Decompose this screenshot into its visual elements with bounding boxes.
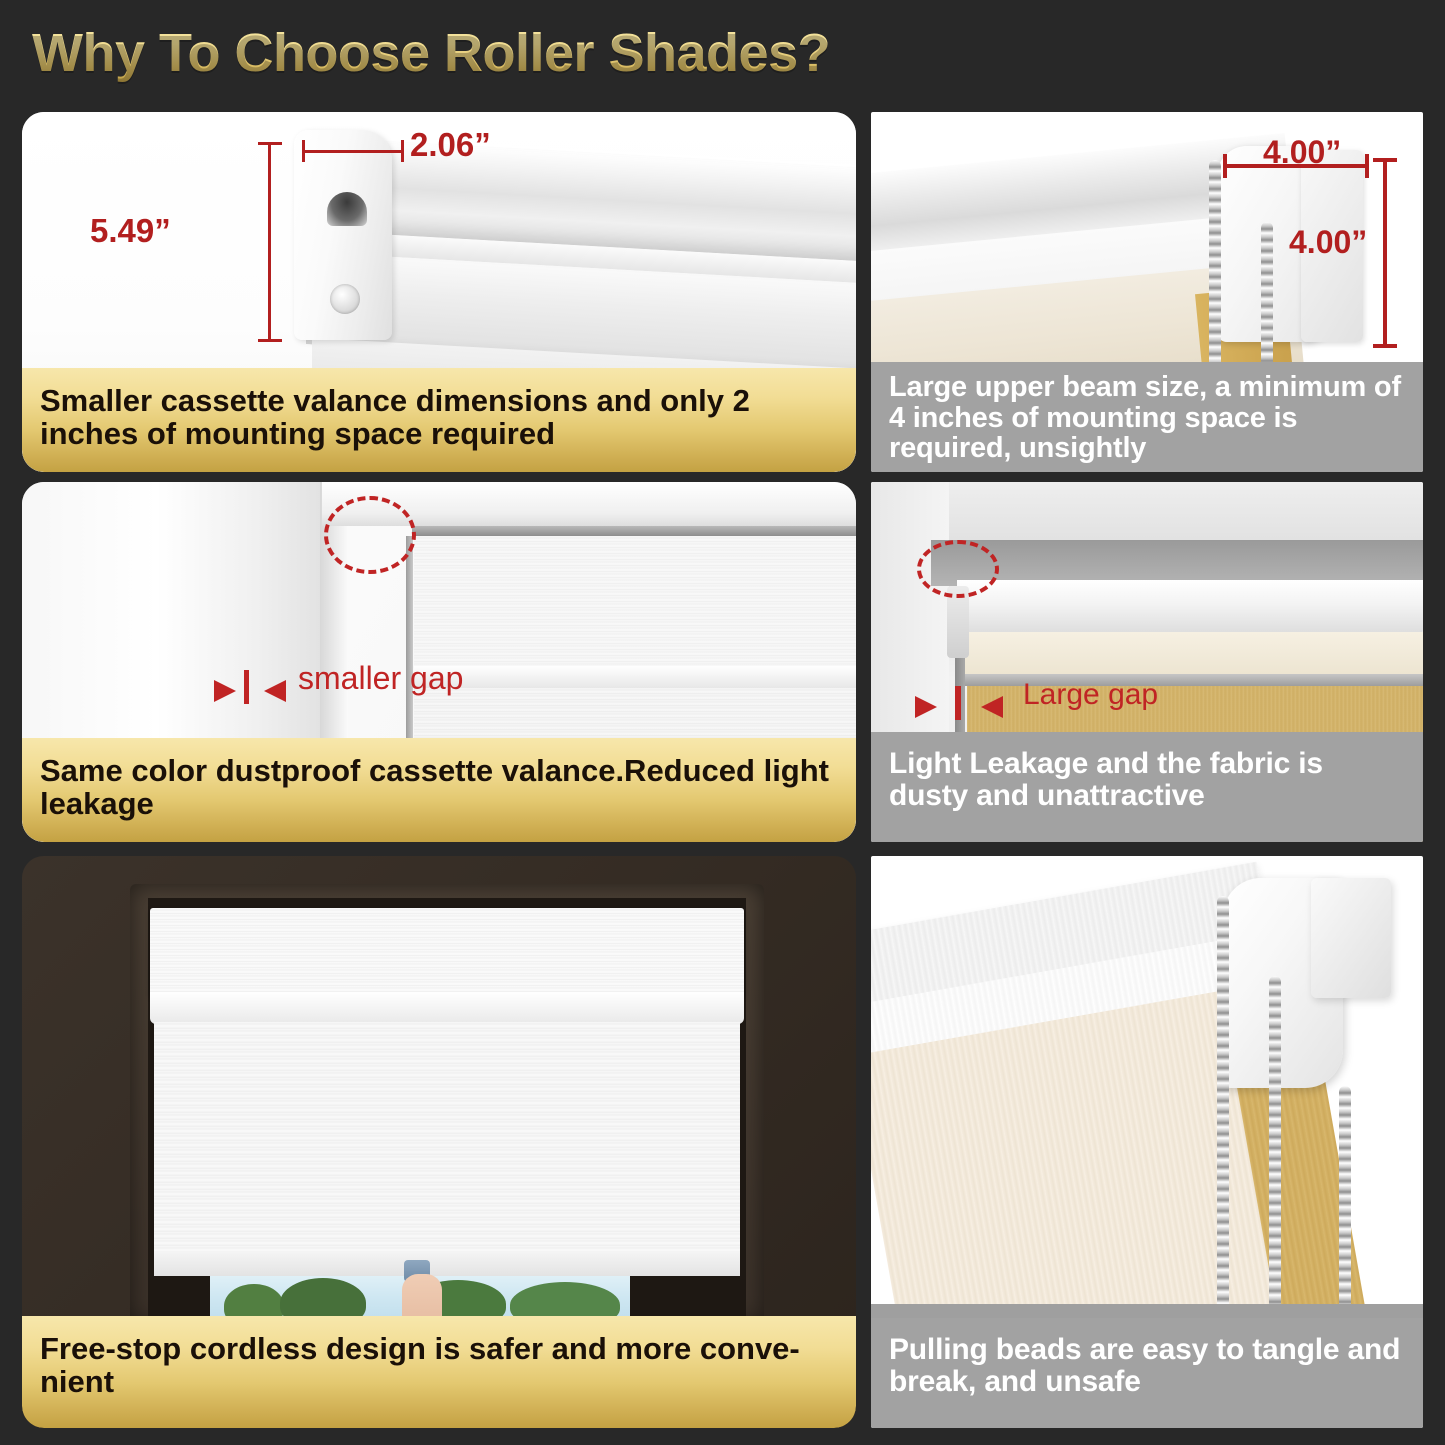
beam-height-cap-bottom (1373, 344, 1397, 348)
width-dimension-cap-left (302, 140, 305, 162)
ceiling-area (871, 482, 1423, 540)
bead-chain-icon (1339, 1086, 1351, 1314)
caption-light-leakage: Light Leakage and the fabric is dusty an… (871, 732, 1423, 842)
height-dimension-label: 5.49” (90, 212, 171, 250)
gap-arrow-right-icon (915, 696, 937, 718)
caption-text: Light Leakage and the fabric is dusty an… (889, 748, 1405, 812)
page-title: Why To Choose Roller Shades? (32, 22, 830, 84)
width-dimension-line (302, 150, 404, 153)
panel-smaller-cassette-valance: 2.06” 5.49” Smaller cassette valance dim… (22, 112, 856, 472)
highlight-circle-annotation (917, 540, 999, 598)
large-gap-label: Large gap (1023, 678, 1158, 712)
width-dimension-cap-right (401, 140, 404, 162)
shade-bottom-rail (154, 1252, 740, 1276)
white-valance (957, 580, 1423, 634)
height-dimension-line (268, 142, 271, 342)
beam-height-cap-top (1373, 158, 1397, 162)
bead-chain-icon (1217, 896, 1229, 1316)
panel-dustproof-cassette-valance: smaller gap Same color dustproof cassett… (22, 482, 856, 842)
shade-fabric-separator (414, 666, 856, 688)
end-cap-screw-icon (330, 284, 360, 314)
photo-bottom-band (871, 1304, 1423, 1318)
panel-cordless-design: Free-stop cordless design is safer and m… (22, 856, 856, 1428)
panel-light-leakage: Large gap Light Leakage and the fabric i… (871, 482, 1423, 842)
panel-pulling-beads: Pulling beads are easy to tangle and bre… (871, 856, 1423, 1428)
height-dimension-cap-bottom (258, 339, 282, 342)
shade-fabric-upper (414, 536, 856, 666)
shade-fabric (154, 1022, 740, 1256)
highlight-circle-annotation (324, 496, 416, 574)
beam-width-cap-right (1365, 154, 1369, 178)
caption-large-upper-beam: Large upper beam size, a minimum of 4 in… (871, 362, 1423, 472)
valance-lip (150, 992, 744, 1024)
beam-height-dimension-line (1383, 158, 1387, 348)
caption-dustproof-cassette-valance: Same color dustproof cassette valance.Re… (22, 738, 856, 842)
mounting-bracket-plate (1311, 878, 1391, 998)
height-dimension-cap-top (258, 142, 282, 145)
bead-chain-icon (1269, 976, 1281, 1316)
caption-text: Same color dustproof cassette valance.Re… (40, 754, 838, 820)
valance-rail (412, 526, 856, 536)
gap-arrow-left-icon (264, 680, 286, 702)
gap-arrow-right-icon (214, 680, 236, 702)
cream-fabric-band (957, 632, 1423, 678)
caption-cordless-design: Free-stop cordless design is safer and m… (22, 1316, 856, 1428)
beam-width-label: 4.00” (1263, 134, 1341, 171)
smaller-gap-label: smaller gap (298, 660, 463, 697)
title-bar: Why To Choose Roller Shades? (0, 0, 1445, 104)
caption-text: Large upper beam size, a minimum of 4 in… (889, 372, 1405, 464)
gap-marker-bar (955, 686, 961, 720)
caption-text: Smaller cassette valance dimensions and … (40, 384, 838, 450)
gap-marker-bar (244, 670, 249, 704)
end-cap-slot-icon (327, 192, 367, 226)
beam-width-cap-left (1223, 154, 1227, 178)
caption-smaller-cassette-valance: Smaller cassette valance dimensions and … (22, 368, 856, 472)
caption-text: Free-stop cordless design is safer and m… (40, 1332, 838, 1398)
cassette-valance (150, 908, 744, 996)
caption-pulling-beads: Pulling beads are easy to tangle and bre… (871, 1318, 1423, 1428)
gap-arrow-left-icon (981, 696, 1003, 718)
beam-height-label: 4.00” (1289, 224, 1367, 261)
caption-text: Pulling beads are easy to tangle and bre… (889, 1334, 1405, 1398)
panel-large-upper-beam: 4.00” 4.00” Large upper beam size, a min… (871, 112, 1423, 472)
width-dimension-label: 2.06” (410, 126, 491, 164)
